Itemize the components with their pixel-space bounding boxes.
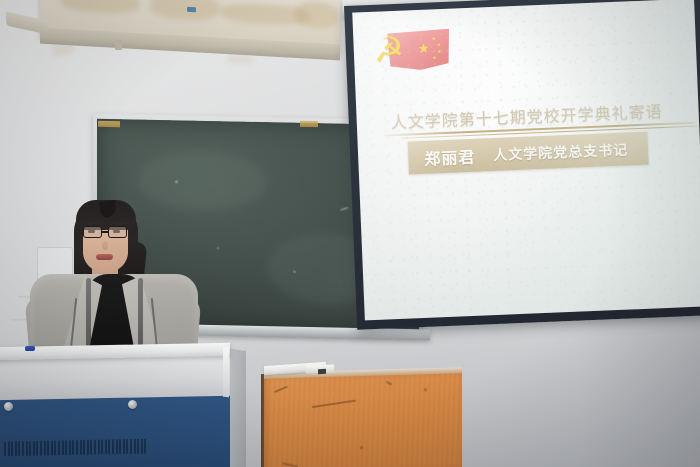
- slide-speaker-name: 郑丽君: [424, 143, 476, 169]
- lectern-vent-slat: [80, 440, 82, 455]
- projection-screen-surface: ★ ★ ★ ★ ★ ☭ 人文学院第十七期党校开学典礼寄语 郑丽君 人文学院党总支…: [352, 0, 700, 320]
- lectern-vent-slat: [108, 439, 110, 454]
- lectern-vent-slat: [51, 440, 53, 455]
- lectern-vent-slat: [87, 440, 89, 455]
- lectern-vent-slat: [40, 441, 42, 456]
- flag-star-large: ★: [418, 42, 430, 55]
- lectern-vent-slat: [83, 440, 85, 455]
- lectern-vent-slat: [62, 440, 64, 455]
- lectern-vent-slat: [58, 440, 60, 455]
- lectern-vent-slat: [72, 440, 74, 455]
- lectern-vent-slat: [90, 440, 92, 455]
- lectern-vent-slat: [141, 439, 143, 454]
- lectern-vent-slat: [137, 439, 139, 454]
- glasses-icon: [82, 226, 130, 239]
- lectern-vent-slat: [123, 439, 125, 454]
- lectern-vent-slat: [144, 439, 146, 454]
- desk-front-panel: [264, 371, 462, 467]
- paper-dark-item: [318, 369, 326, 374]
- blackboard-clip: [98, 121, 120, 127]
- ceiling-hook: [115, 40, 122, 50]
- lectern-vent-slat: [105, 439, 107, 454]
- lectern-vent-slat: [98, 440, 100, 455]
- slide-speaker-role: 人文学院党总支书记: [493, 139, 629, 165]
- lectern-vent-slat: [119, 439, 121, 454]
- pen: [25, 346, 35, 351]
- flag-star-small: ★: [437, 43, 442, 48]
- lectern-vent-slat: [47, 441, 49, 456]
- flag-star-small: ★: [432, 56, 437, 61]
- lectern-vent-slat: [126, 439, 128, 454]
- lectern-screw: [128, 400, 137, 409]
- flag-and-emblem: ★ ★ ★ ★ ★ ☭: [369, 25, 455, 78]
- nose: [102, 241, 108, 250]
- lectern-vent-slat: [65, 440, 67, 455]
- lectern: [0, 345, 242, 467]
- glasses-lens-right: [108, 226, 127, 238]
- lectern-vent-grille: [4, 439, 149, 458]
- lectern-vent-slat: [26, 441, 28, 456]
- lectern-screw: [4, 402, 13, 411]
- lectern-vent-slat: [130, 439, 132, 454]
- lectern-vent-slat: [18, 441, 20, 456]
- lectern-vent-slat: [76, 440, 78, 455]
- projection-screen-frame: ★ ★ ★ ★ ★ ☭ 人文学院第十七期党校开学典礼寄语 郑丽君 人文学院党总支…: [344, 0, 700, 330]
- lectern-apron: [0, 354, 230, 401]
- beam-blue-marker: [187, 7, 196, 13]
- lectern-vent-slat: [69, 440, 71, 455]
- glasses-lens-left: [83, 226, 102, 238]
- party-hammer-sickle-icon: ☭: [369, 32, 408, 68]
- lectern-vent-slat: [44, 441, 46, 456]
- lectern-vent-slat: [33, 441, 35, 456]
- lectern-vent-slat: [134, 439, 136, 454]
- mouth: [96, 254, 113, 260]
- blackboard-clip: [300, 121, 318, 127]
- lectern-vent-slat: [22, 441, 24, 456]
- wooden-desk: [262, 370, 462, 467]
- wall-patch: [228, 54, 252, 64]
- lectern-vent-slat: [11, 441, 13, 456]
- lectern-vent-slat: [4, 441, 6, 456]
- lectern-vent-slat: [36, 441, 38, 456]
- lectern-vent-slat: [29, 441, 31, 456]
- lectern-vent-slat: [54, 440, 56, 455]
- flag-star-small: ★: [431, 37, 436, 42]
- lectern-vent-slat: [94, 440, 96, 455]
- lectern-vent-slat: [15, 441, 17, 456]
- lectern-vent-slat: [112, 439, 114, 454]
- photo-scene: ★ ★ ★ ★ ★ ☭ 人文学院第十七期党校开学典礼寄语 郑丽君 人文学院党总支…: [0, 0, 700, 467]
- lectern-vent-slat: [101, 439, 103, 454]
- lectern-top-edge: [223, 347, 229, 398]
- lectern-vent-slat: [116, 439, 118, 454]
- lectern-vent-slat: [8, 441, 10, 456]
- flag-star-small: ★: [437, 50, 442, 55]
- glasses-bridge: [102, 231, 109, 233]
- slide-speaker-bar: 郑丽君 人文学院党总支书记: [408, 132, 649, 175]
